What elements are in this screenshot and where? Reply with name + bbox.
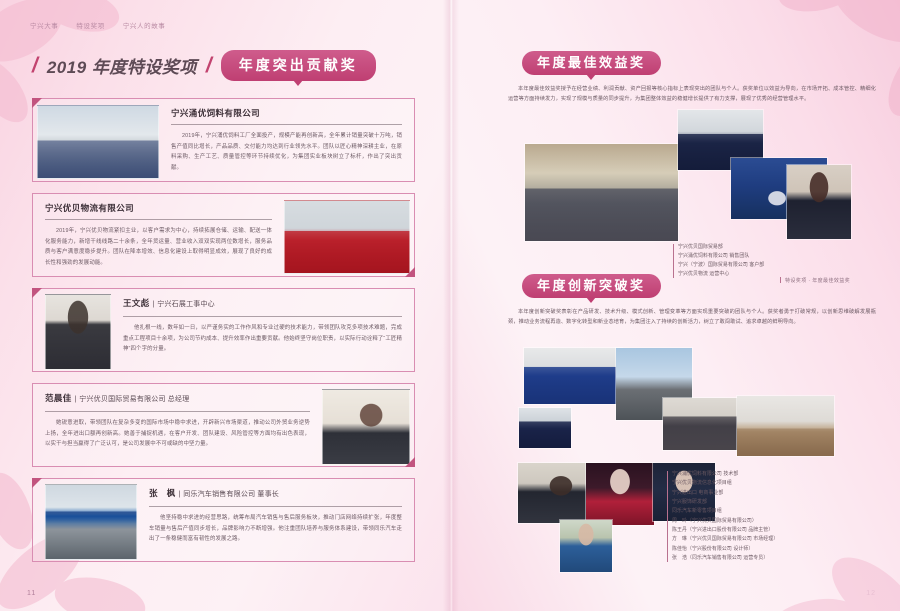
- award-pill-innovation: 年度创新突破奖: [522, 275, 661, 295]
- running-head: 宁兴大事 特设奖项 宁兴人的故事: [30, 20, 165, 30]
- mini-head-rule: [780, 277, 781, 283]
- list-item: [525, 144, 678, 241]
- right-page: 年度最佳效益奖 本年度最佳效益奖授予在经营业绩、利润贡献、资产回报等核心指标上表…: [450, 0, 900, 611]
- divider: [45, 411, 310, 412]
- card-body-text: 她锐意进取，带领团队在复杂多变的国际市场中稳中求进，开辟新兴市场渠道，推动公司外…: [45, 418, 310, 450]
- running-head-item-0: 宁兴大事: [30, 20, 58, 30]
- card-title: 张 枫 | 同乐汽车销售有限公司 董事长: [149, 487, 402, 499]
- left-page: 宁兴大事 特设奖项 宁兴人的故事 / 2019 年度特设奖项 / 年度突出贡献奖…: [0, 0, 450, 611]
- card-title: 范晨佳 | 宁兴优贝国际贸易有限公司 总经理: [45, 392, 310, 404]
- card-body-text: 他扎根一线，数年如一日，以严谨务实的工作作风和专业过硬的技术能力，带领团队攻克多…: [123, 323, 402, 355]
- running-head-item-1: 特设奖项: [76, 20, 104, 30]
- title-main-text: 2019 年度特设奖项: [47, 53, 197, 78]
- photo-caption-list: 宁兴优贝国际贸易部 宁兴涌优饲料有限公司 销售团队 宁兴（宁波）国际贸易有限公司…: [678, 243, 764, 279]
- list-item: 陈佳怡（宁兴股份有限公司 设计师）: [672, 545, 778, 554]
- list-item: 陈王丹（宁兴进出口股份有限公司 品牌主管）: [672, 526, 778, 535]
- card-body-text: 他坚持稳中求进的经营思路，统筹布局汽车销售与售后服务板块，推动门店网络持续扩张，…: [149, 513, 402, 545]
- list-item: 宁兴（宁波）国际贸易有限公司 客户部: [678, 261, 764, 270]
- card-subtitle: |: [74, 396, 76, 403]
- list-item: 宁兴服饰研发部: [672, 498, 778, 507]
- divider: [123, 316, 402, 317]
- table-row: 王文彪 | 宁兴石展工事中心 他扎根一线，数年如一日，以严谨务实的工作作风和专业…: [32, 288, 415, 372]
- page-title: / 2019 年度特设奖项 / 年度突出贡献奖: [32, 50, 376, 81]
- card-title: 宁兴涌优饲料有限公司: [171, 107, 402, 119]
- list-item: 方 琳（宁兴优贝国际贸易有限公司 市场经理）: [672, 535, 778, 544]
- list-item: [524, 348, 622, 404]
- list-item: 宁兴涌优饲料有限公司 销售团队: [678, 252, 764, 261]
- title-slash-left: /: [32, 55, 38, 76]
- section-mini-head: 特设奖项 · 年度最佳效益奖: [780, 277, 850, 284]
- list-item: [519, 408, 571, 448]
- list-item: 张 浩（同乐汽车销售有限公司 运营专员）: [672, 554, 778, 563]
- list-item: [518, 463, 596, 523]
- card-body-text: 2019年，宁兴涌优饲料工厂全面投产，规模产能再创新高，全年累计销量突破十万吨，…: [171, 131, 402, 173]
- table-row: 宁兴涌优饲料有限公司 2019年，宁兴涌优饲料工厂全面投产，规模产能再创新高，全…: [32, 98, 415, 182]
- award-pill-contribution: 年度突出贡献奖: [221, 50, 376, 81]
- list-item: 同乐汽车新零售项目组: [672, 507, 778, 516]
- award-pill-best-benefit: 年度最佳效益奖: [522, 52, 661, 72]
- list-item: [560, 520, 612, 572]
- list-item: [737, 396, 834, 456]
- list-item: 周 玲（宁兴优贝国际贸易有限公司）: [672, 517, 778, 526]
- section-intro-text: 本年度最佳效益奖授予在经营业绩、利润贡献、资产回报等核心指标上表现突出的团队与个…: [508, 84, 876, 105]
- page-number-left: 11: [27, 590, 36, 597]
- card-subtitle: |: [152, 301, 154, 308]
- divider: [45, 219, 272, 220]
- running-head-item-2: 宁兴人的故事: [123, 20, 166, 30]
- photo-caption-list: 宁兴涌优饲料有限公司 技术部 宁兴优贝物流信息化项目组 宁兴进出口 电商事业部 …: [672, 470, 778, 563]
- list-item: 宁兴优贝物流信息化项目组: [672, 479, 778, 488]
- card-photo-man-in-coat: [45, 294, 111, 370]
- card-body-text: 2019年，宁兴优贝物流紧扣主业，以客户需求为中心，持续拓展仓储、运输、配送一体…: [45, 226, 272, 268]
- title-slash-right: /: [206, 55, 212, 76]
- card-photo-red-banner-ceremony: [284, 200, 410, 274]
- card-subtitle: |: [178, 491, 180, 498]
- table-row: 张 枫 | 同乐汽车销售有限公司 董事长 他坚持稳中求进的经营思路，统筹布局汽车…: [32, 478, 415, 562]
- magazine-spread: 宁兴大事 特设奖项 宁兴人的故事 / 2019 年度特设奖项 / 年度突出贡献奖…: [0, 0, 900, 611]
- list-item: [787, 165, 851, 239]
- divider: [171, 124, 402, 125]
- list-item: [586, 463, 654, 525]
- list-item: 宁兴优贝国际贸易部: [678, 243, 764, 252]
- card-title: 宁兴优贝物流有限公司: [45, 202, 272, 214]
- page-number-right: 12: [866, 590, 876, 597]
- caption-rule: [667, 471, 668, 562]
- list-item: 宁兴进出口 电商事业部: [672, 489, 778, 498]
- divider: [149, 506, 402, 507]
- card-photo-woman-at-desk: [322, 389, 410, 465]
- caption-rule: [673, 244, 674, 278]
- card-title: 王文彪 | 宁兴石展工事中心: [123, 297, 402, 309]
- section-intro-text: 本年度创新突破奖表彰在产品研发、技术升级、模式创新、管理变革等方面实现重要突破的…: [508, 307, 876, 328]
- list-item: 宁兴优贝物流 运营中心: [678, 270, 764, 279]
- table-row: 宁兴优贝物流有限公司 2019年，宁兴优贝物流紧扣主业，以客户需求为中心，持续拓…: [32, 193, 415, 277]
- card-photo-man-by-dealership: [45, 484, 137, 560]
- table-row: 范晨佳 | 宁兴优贝国际贸易有限公司 总经理 她锐意进取，带领团队在复杂多变的国…: [32, 383, 415, 467]
- card-photo-company-building: [37, 105, 159, 179]
- list-item: 宁兴涌优饲料有限公司 技术部: [672, 470, 778, 479]
